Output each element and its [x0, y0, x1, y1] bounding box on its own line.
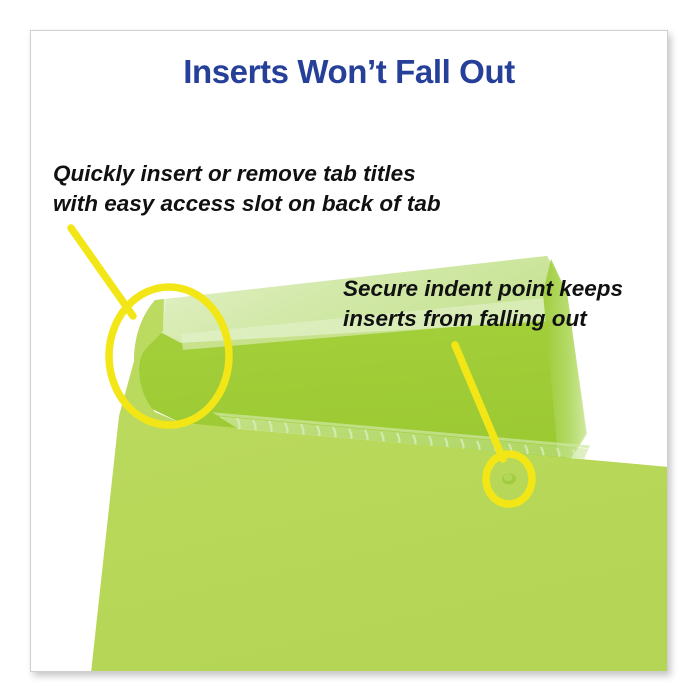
callout-right-line-1: Secure indent point keeps: [343, 274, 623, 304]
product-card: Inserts Won’t Fall Out Quickly insert or…: [30, 30, 668, 672]
callout-left-line-2: with easy access slot on back of tab: [53, 189, 441, 219]
callout-text-right: Secure indent point keeps inserts from f…: [343, 274, 623, 334]
callout-left-line-1: Quickly insert or remove tab titles: [53, 159, 441, 189]
callout-right-line-2: inserts from falling out: [343, 304, 623, 334]
divider-illustration: [31, 31, 668, 672]
callout-text-left: Quickly insert or remove tab titles with…: [53, 159, 441, 219]
product-photo: [31, 31, 668, 672]
indent-point: [502, 474, 516, 485]
page-title: Inserts Won’t Fall Out: [31, 53, 667, 91]
image-canvas: Inserts Won’t Fall Out Quickly insert or…: [0, 0, 700, 700]
